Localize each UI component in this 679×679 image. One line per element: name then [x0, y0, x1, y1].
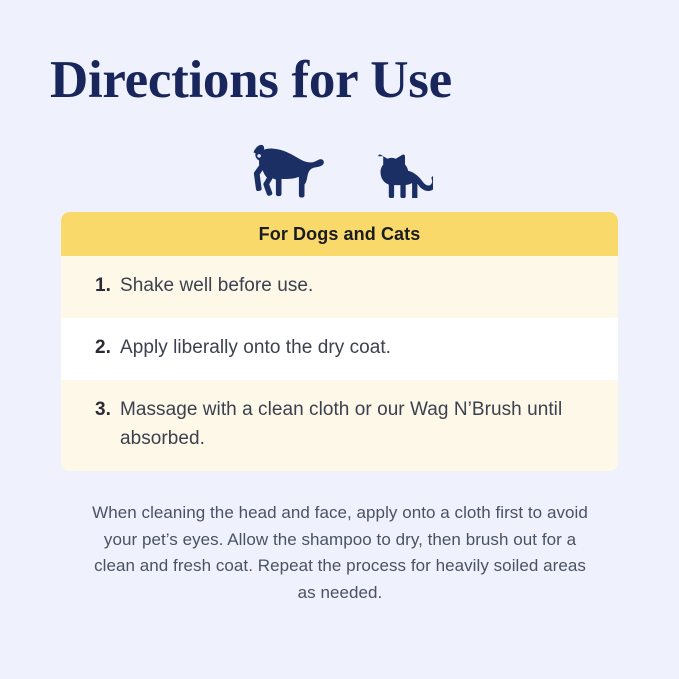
animal-icon-row	[0, 136, 679, 198]
step-number: 3.	[95, 396, 120, 425]
list-item: 3. Massage with a clean cloth or our Wag…	[61, 380, 618, 471]
directions-card: For Dogs and Cats 1. Shake well before u…	[61, 212, 618, 471]
page-title: Directions for Use	[50, 52, 452, 109]
step-number: 2.	[95, 334, 120, 363]
directions-for-use-panel: Directions for Use For Dogs and Cats 1. …	[0, 0, 679, 679]
list-item: 1. Shake well before use.	[61, 256, 618, 318]
dog-icon	[246, 142, 326, 198]
footnote-text: When cleaning the head and face, apply o…	[84, 500, 596, 606]
step-text: Shake well before use.	[120, 272, 584, 301]
step-number: 1.	[95, 272, 120, 301]
card-header: For Dogs and Cats	[61, 212, 618, 256]
list-item: 2. Apply liberally onto the dry coat.	[61, 318, 618, 380]
step-text: Massage with a clean cloth or our Wag N’…	[120, 396, 584, 454]
step-text: Apply liberally onto the dry coat.	[120, 334, 584, 363]
cat-icon	[370, 150, 433, 198]
